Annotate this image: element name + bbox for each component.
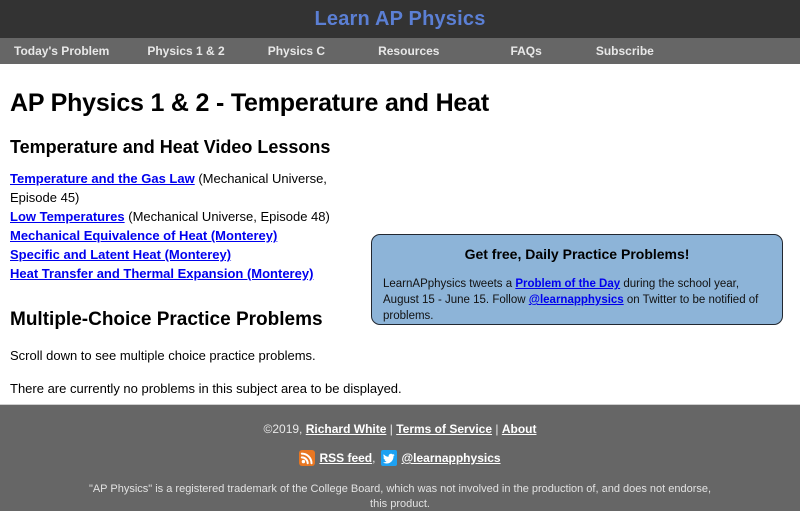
footer-separator-1: | [386,422,396,436]
list-item: Heat Transfer and Thermal Expansion (Mon… [10,264,350,283]
footer-copyright: ©2019, Richard White | Terms of Service … [0,422,800,436]
footer-social-comma: , [372,451,375,465]
list-item: Low Temperatures (Mechanical Universe, E… [10,207,350,226]
lesson-link-specific-and-latent-heat[interactable]: Specific and Latent Heat (Monterey) [10,247,231,262]
lesson-link-heat-transfer-thermal-expansion[interactable]: Heat Transfer and Thermal Expansion (Mon… [10,266,313,281]
nav-item-todays-problem[interactable]: Today's Problem [14,45,109,57]
no-problems-text: There are currently no problems in this … [10,381,790,397]
nav-item-physics-c[interactable]: Physics C [268,45,325,57]
nav-item-physics-1-2[interactable]: Physics 1 & 2 [147,45,224,57]
site-header: Learn AP Physics [0,0,800,38]
daily-practice-promo-box: Get free, Daily Practice Problems! Learn… [371,234,783,325]
footer-link-richard-white[interactable]: Richard White [306,422,387,436]
footer-link-terms-of-service[interactable]: Terms of Service [396,422,492,436]
video-lessons-list: Temperature and the Gas Law (Mechanical … [10,169,350,283]
trademark-disclaimer: "AP Physics" is a registered trademark o… [85,482,715,512]
nav-item-subscribe[interactable]: Subscribe [596,45,654,57]
main-content: AP Physics 1 & 2 - Temperature and Heat … [0,90,800,430]
list-item: Temperature and the Gas Law (Mechanical … [10,169,350,207]
lesson-link-mechanical-equivalence-of-heat[interactable]: Mechanical Equivalence of Heat (Monterey… [10,228,277,243]
scroll-instruction-text: Scroll down to see multiple choice pract… [10,348,790,364]
twitter-icon[interactable] [381,450,397,466]
lesson-note: (Mechanical Universe, Episode 48) [125,209,330,224]
footer-separator-2: | [492,422,502,436]
footer-link-rss-feed[interactable]: RSS feed [319,451,372,465]
main-navigation: Today's Problem Physics 1 & 2 Physics C … [0,38,800,64]
nav-item-faqs[interactable]: FAQs [510,45,541,57]
copyright-text: ©2019, [264,422,306,436]
footer-link-about[interactable]: About [502,422,537,436]
site-title: Learn AP Physics [314,9,485,29]
promo-body: LearnAPphysics tweets a Problem of the D… [383,276,771,324]
site-footer: ©2019, Richard White | Terms of Service … [0,404,800,511]
page-title: AP Physics 1 & 2 - Temperature and Heat [10,90,790,118]
promo-link-problem-of-the-day[interactable]: Problem of the Day [515,278,620,290]
footer-link-twitter-handle[interactable]: @learnapphysics [401,451,500,465]
nav-item-resources[interactable]: Resources [378,45,439,57]
lesson-link-temperature-gas-law[interactable]: Temperature and the Gas Law [10,171,195,186]
page-root: Learn AP Physics Today's Problem Physics… [0,0,800,511]
footer-social-links: RSS feed, @learnapphysics [0,450,800,466]
list-item: Specific and Latent Heat (Monterey) [10,245,350,264]
promo-link-learnapphysics[interactable]: @learnapphysics [529,294,624,306]
promo-title: Get free, Daily Practice Problems! [383,246,771,262]
list-item: Mechanical Equivalence of Heat (Monterey… [10,226,350,245]
rss-icon[interactable] [299,450,315,466]
promo-text-before: LearnAPphysics tweets a [383,278,515,290]
lesson-link-low-temperatures[interactable]: Low Temperatures [10,209,125,224]
video-lessons-heading: Temperature and Heat Video Lessons [10,137,790,158]
